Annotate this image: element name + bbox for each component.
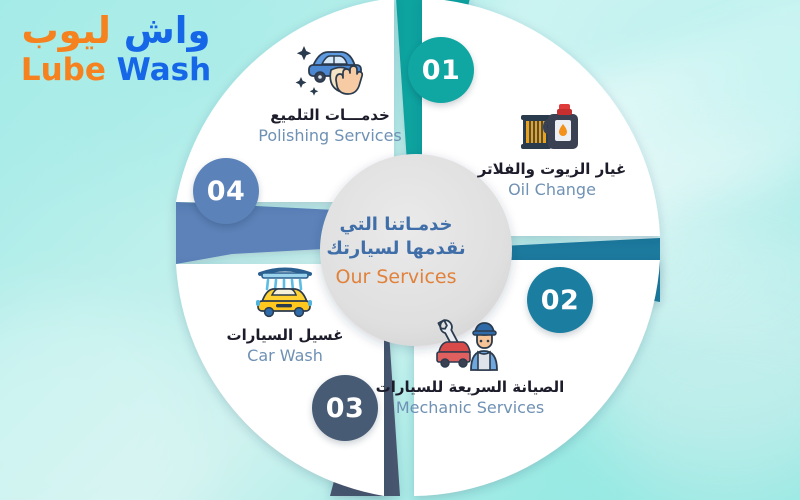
step-badge-01[interactable]: 01 <box>408 37 474 103</box>
wheel-center-circle <box>320 154 512 346</box>
step-badge-04[interactable]: 04 <box>193 158 259 224</box>
step-badge-02[interactable]: 02 <box>527 267 593 333</box>
infographic-canvas: واش ليوب Lube Wash <box>0 0 800 500</box>
brand-logo-english-orange: Lube <box>21 52 106 88</box>
brand-logo-arabic-orange: ليوب <box>21 9 110 52</box>
step-badge-03[interactable]: 03 <box>312 375 378 441</box>
